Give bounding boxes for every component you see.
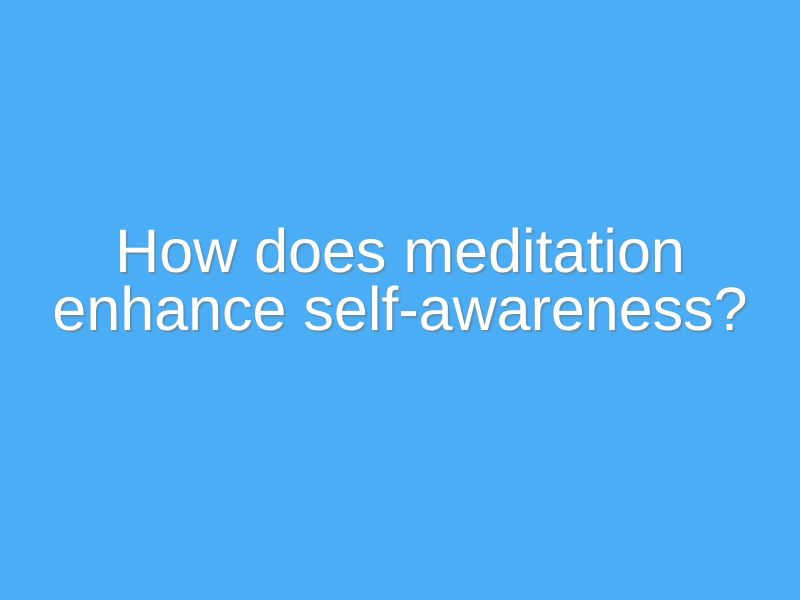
title-line-2: enhance self-awareness?: [0, 280, 800, 338]
title-line-1: How does meditation: [0, 222, 800, 280]
page-title: How does meditation enhance self-awarene…: [0, 0, 800, 338]
title-card: How does meditation enhance self-awarene…: [0, 0, 800, 600]
